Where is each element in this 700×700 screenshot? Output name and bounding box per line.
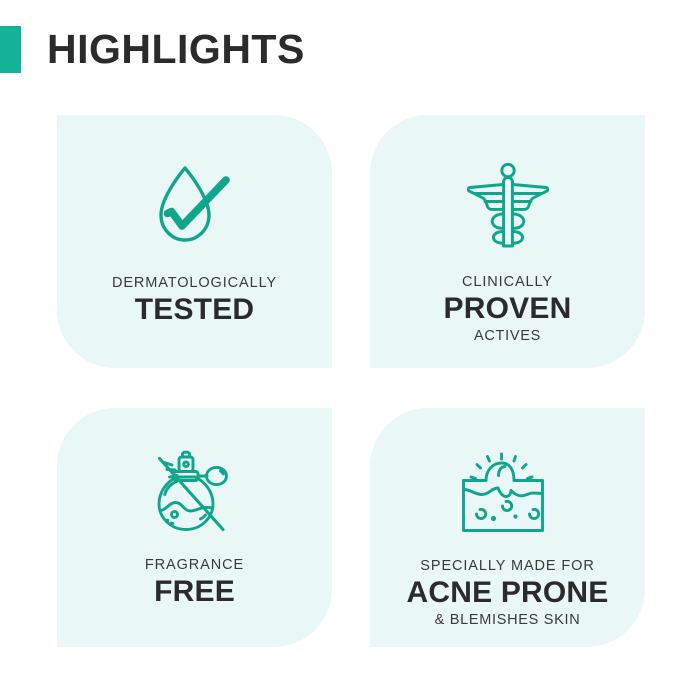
card-line-small: FRAGRANCE: [65, 556, 324, 574]
highlights-grid: DERMATOLOGICALLY TESTED: [57, 115, 645, 647]
highlight-card-fragrance-free: FRAGRANCE FREE: [57, 408, 332, 647]
page-title: HIGHLIGHTS: [47, 29, 305, 70]
accent-bar: [0, 26, 21, 73]
card-text-block: DERMATOLOGICALLY TESTED: [57, 274, 332, 328]
card-line-small: DERMATOLOGICALLY: [65, 274, 324, 292]
card-line-big: ACNE PRONE: [378, 575, 637, 610]
highlight-card-acne-prone: SPECIALLY MADE FOR ACNE PRONE & BLEMISHE…: [370, 408, 645, 647]
acne-skin-icon: [458, 452, 558, 541]
card-line-small: CLINICALLY: [378, 273, 637, 291]
page-header: HIGHLIGHTS: [0, 24, 305, 74]
droplet-check-icon: [147, 163, 243, 260]
card-text-block: FRAGRANCE FREE: [57, 556, 332, 610]
card-line-small: SPECIALLY MADE FOR: [378, 557, 637, 575]
card-line-sub: ACTIVES: [378, 327, 637, 346]
highlight-card-dermatologically-tested: DERMATOLOGICALLY TESTED: [57, 115, 332, 368]
card-line-big: PROVEN: [378, 291, 637, 326]
card-line-sub: & BLEMISHES SKIN: [378, 611, 637, 630]
highlight-card-clinically-proven: CLINICALLY PROVEN ACTIVES: [370, 115, 645, 368]
card-line-big: TESTED: [65, 292, 324, 327]
card-line-big: FREE: [65, 574, 324, 609]
card-text-block: CLINICALLY PROVEN ACTIVES: [370, 273, 645, 345]
highlights-page: HIGHLIGHTS DERMATOLOGICALLY TESTED: [0, 0, 700, 700]
card-text-block: SPECIALLY MADE FOR ACNE PRONE & BLEMISHE…: [370, 557, 645, 629]
no-fragrance-bottle-icon: [147, 450, 243, 541]
caduceus-icon: [460, 162, 556, 259]
